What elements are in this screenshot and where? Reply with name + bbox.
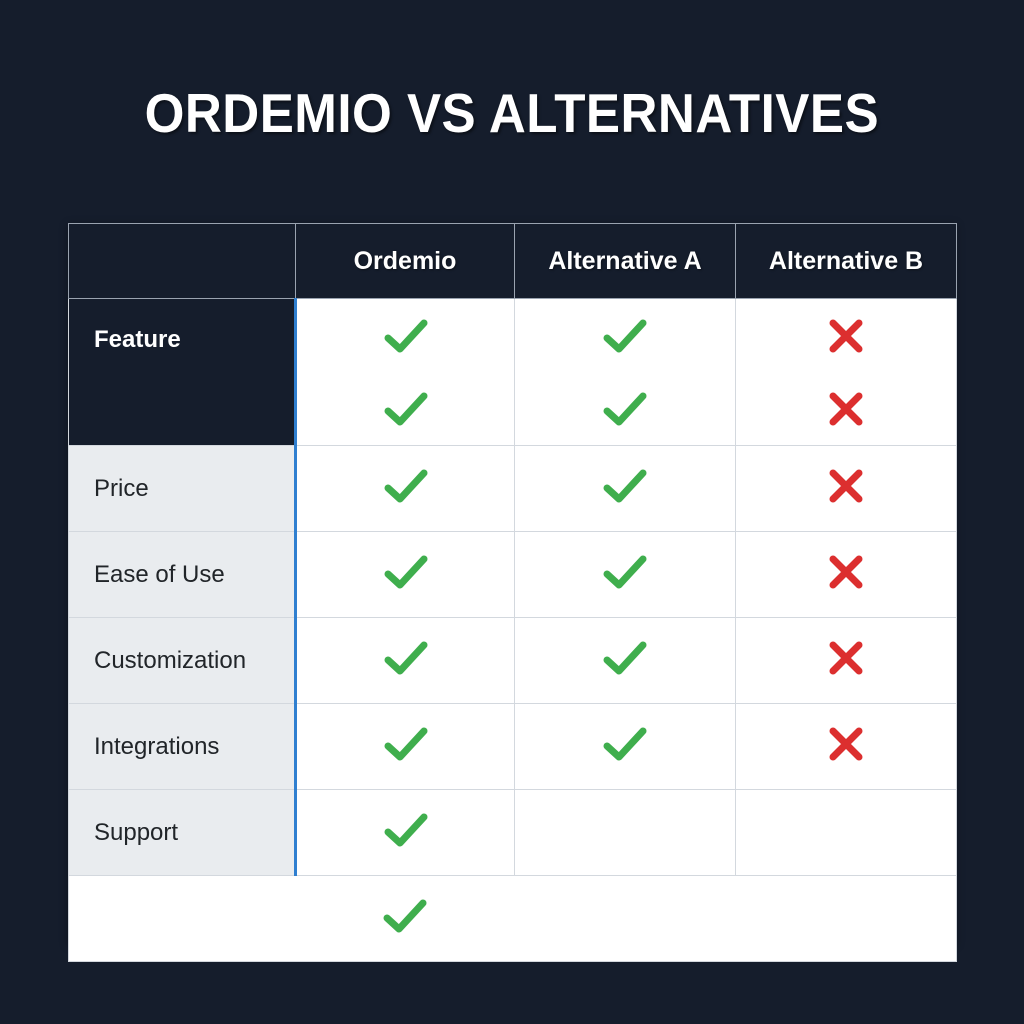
row-label-customization: Customization [69, 618, 296, 704]
row-label-ease-of-use: Ease of Use [69, 532, 296, 618]
table-row [69, 876, 957, 962]
table-row: Customization [69, 618, 957, 704]
cross-icon [827, 639, 865, 677]
table-row: Support [69, 790, 957, 876]
cell-ease-of-use-ordemio [296, 532, 515, 618]
cell-feature-alternative-b [736, 299, 957, 446]
cell-customization-alternative-a [515, 618, 736, 704]
cell-blank-ordemio [296, 876, 515, 962]
cell-integrations-alternative-b [736, 704, 957, 790]
comparison-table-container: Ordemio Alternative A Alternative B Feat… [68, 223, 956, 943]
check-icon [603, 554, 647, 590]
page-root: ORDEMIO VS ALTERNATIVES Ordemio Alternat… [0, 0, 1024, 1024]
cross-icon [827, 390, 865, 428]
check-icon [384, 391, 428, 427]
table-header: Ordemio Alternative A Alternative B [69, 224, 957, 299]
column-header-alternative-a: Alternative A [515, 224, 736, 299]
check-icon [383, 898, 427, 934]
cell-feature-ordemio [296, 299, 515, 446]
cross-icon [827, 725, 865, 763]
table-row: Feature [69, 299, 957, 446]
cell-blank-alternative-b [736, 876, 957, 962]
cell-price-alternative-a [515, 446, 736, 532]
column-header-feature [69, 224, 296, 299]
table-row: Integrations [69, 704, 957, 790]
check-icon [384, 812, 428, 848]
comparison-table: Ordemio Alternative A Alternative B Feat… [68, 223, 957, 962]
row-label-price: Price [69, 446, 296, 532]
cell-customization-alternative-b [736, 618, 957, 704]
cross-icon [827, 467, 865, 505]
check-icon [384, 318, 428, 354]
cell-support-alternative-b [736, 790, 957, 876]
check-icon [603, 318, 647, 354]
table-body: Feature [69, 299, 957, 962]
check-icon [384, 640, 428, 676]
cell-price-ordemio [296, 446, 515, 532]
page-title-container: ORDEMIO VS ALTERNATIVES [0, 86, 1024, 141]
check-icon [384, 726, 428, 762]
page-title: ORDEMIO VS ALTERNATIVES [145, 86, 879, 141]
check-icon [603, 391, 647, 427]
check-icon [603, 726, 647, 762]
cross-icon [827, 317, 865, 355]
check-icon [603, 640, 647, 676]
cross-icon [827, 553, 865, 591]
cell-support-alternative-a [515, 790, 736, 876]
row-label-blank [69, 876, 296, 962]
cell-integrations-alternative-a [515, 704, 736, 790]
cell-support-ordemio [296, 790, 515, 876]
table-row: Ease of Use [69, 532, 957, 618]
cell-blank-alternative-a [515, 876, 736, 962]
check-icon [384, 554, 428, 590]
cell-customization-ordemio [296, 618, 515, 704]
check-icon [603, 468, 647, 504]
check-icon [384, 468, 428, 504]
table-row: Price [69, 446, 957, 532]
column-header-alternative-b: Alternative B [736, 224, 957, 299]
row-label-support: Support [69, 790, 296, 876]
cell-ease-of-use-alternative-b [736, 532, 957, 618]
cell-ease-of-use-alternative-a [515, 532, 736, 618]
row-label-feature: Feature [69, 299, 296, 446]
row-label-integrations: Integrations [69, 704, 296, 790]
cell-price-alternative-b [736, 446, 957, 532]
cell-feature-alternative-a [515, 299, 736, 446]
column-header-ordemio: Ordemio [296, 224, 515, 299]
cell-integrations-ordemio [296, 704, 515, 790]
header-row: Ordemio Alternative A Alternative B [69, 224, 957, 299]
